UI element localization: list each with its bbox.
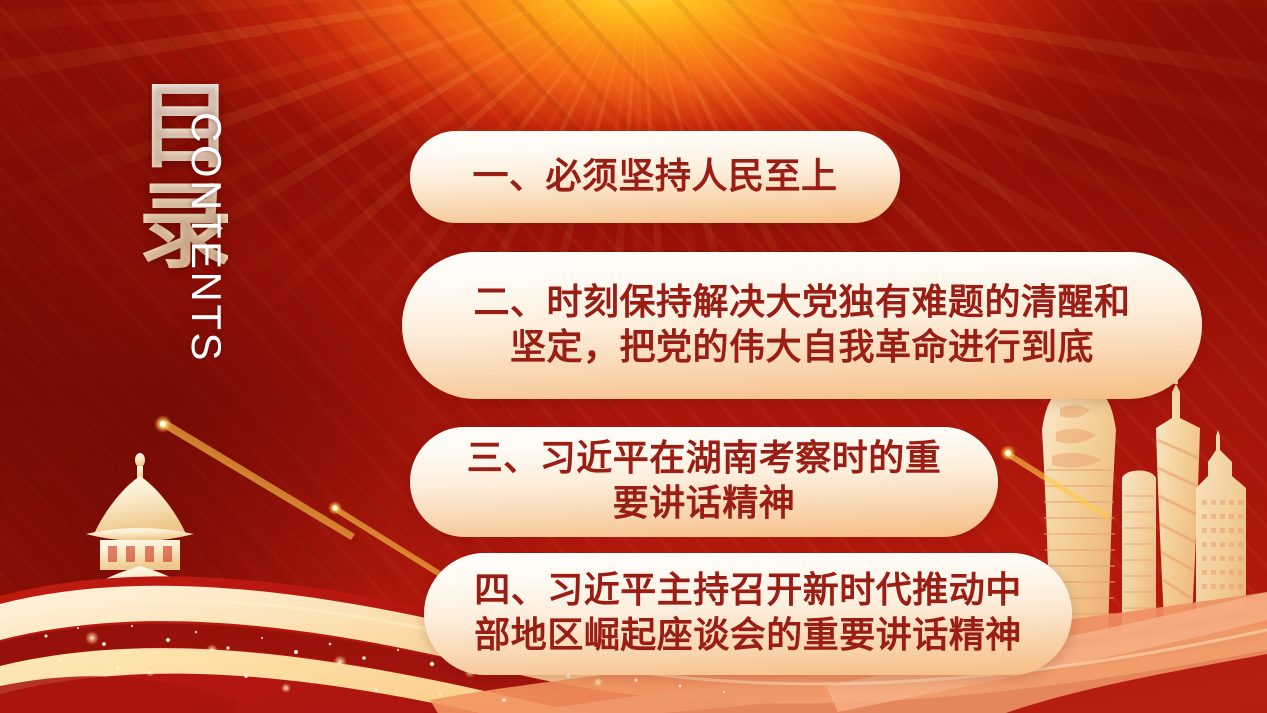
contents-item-3-label: 三、习近平在湖南考察时的重 要讲话精神 [467, 437, 942, 526]
contents-item-1-label: 一、必须坚持人民至上 [472, 155, 837, 200]
temple-of-heaven-art [46, 453, 234, 706]
title-group: 目录 CONTENTS [112, 74, 312, 424]
page-title-en: CONTENTS [182, 112, 230, 363]
contents-item-1[interactable]: 一、必须坚持人民至上 [410, 131, 900, 223]
contents-item-4[interactable]: 四、习近平主持召开新时代推动中 部地区崛起座谈会的重要讲话精神 [424, 553, 1072, 675]
contents-item-4-label: 四、习近平主持召开新时代推动中 部地区崛起座谈会的重要讲话精神 [474, 569, 1022, 658]
contents-item-2[interactable]: 二、时刻保持解决大党独有难题的清醒和 坚定，把党的伟大自我革命进行到底 [402, 252, 1202, 399]
contents-item-3[interactable]: 三、习近平在湖南考察时的重 要讲话精神 [410, 427, 998, 537]
contents-slide: 目录 CONTENTS 一、必须坚持人民至上 二、时刻保持解决大党独有难题的清醒… [0, 0, 1267, 713]
contents-list: 一、必须坚持人民至上 二、时刻保持解决大党独有难题的清醒和 坚定，把党的伟大自我… [402, 0, 1222, 713]
contents-item-2-label: 二、时刻保持解决大党独有难题的清醒和 坚定，把党的伟大自我革命进行到底 [473, 281, 1130, 370]
